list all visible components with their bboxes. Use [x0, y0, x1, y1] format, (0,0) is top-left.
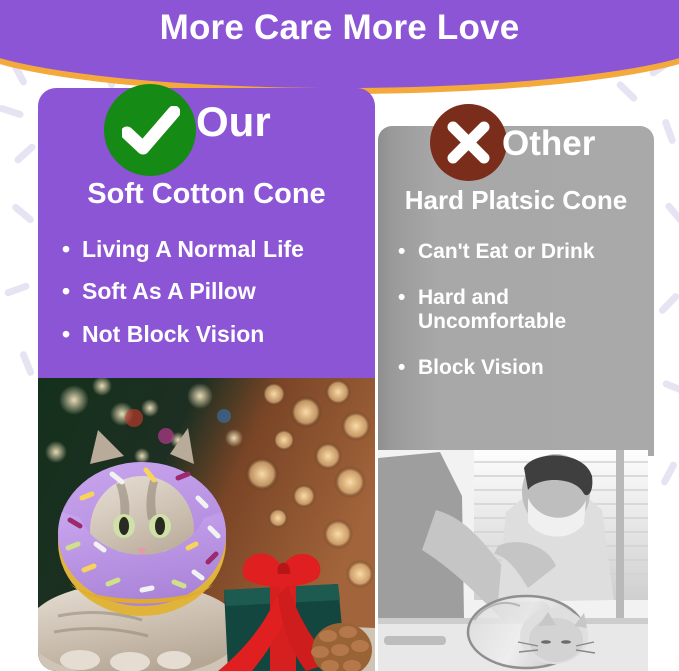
card-other-title: Other — [502, 124, 595, 164]
card-our-title: Our — [196, 98, 271, 146]
list-item: Living A Normal Life — [62, 236, 372, 262]
x-circle-icon — [430, 104, 507, 181]
card-other-subtitle: Hard Platsic Cone — [378, 185, 654, 216]
list-item: Hard and Uncomfortable — [398, 286, 648, 334]
card-our-bullets: Living A Normal Life Soft As A Pillow No… — [62, 236, 372, 363]
list-item: Block Vision — [398, 356, 648, 380]
photo-other-hard-cone — [378, 450, 648, 671]
photo-our-soft-cone — [38, 378, 375, 671]
check-circle-icon — [104, 84, 196, 176]
card-our-subtitle: Soft Cotton Cone — [38, 178, 375, 211]
list-item: Can't Eat or Drink — [398, 240, 648, 264]
page-title: More Care More Love — [0, 0, 679, 56]
card-other-bullets: Can't Eat or Drink Hard and Uncomfortabl… — [398, 240, 648, 403]
list-item: Soft As A Pillow — [62, 278, 372, 304]
list-item: Not Block Vision — [62, 321, 372, 347]
comparison-infographic: More Care More Love Other Hard Platsic C… — [0, 0, 679, 671]
